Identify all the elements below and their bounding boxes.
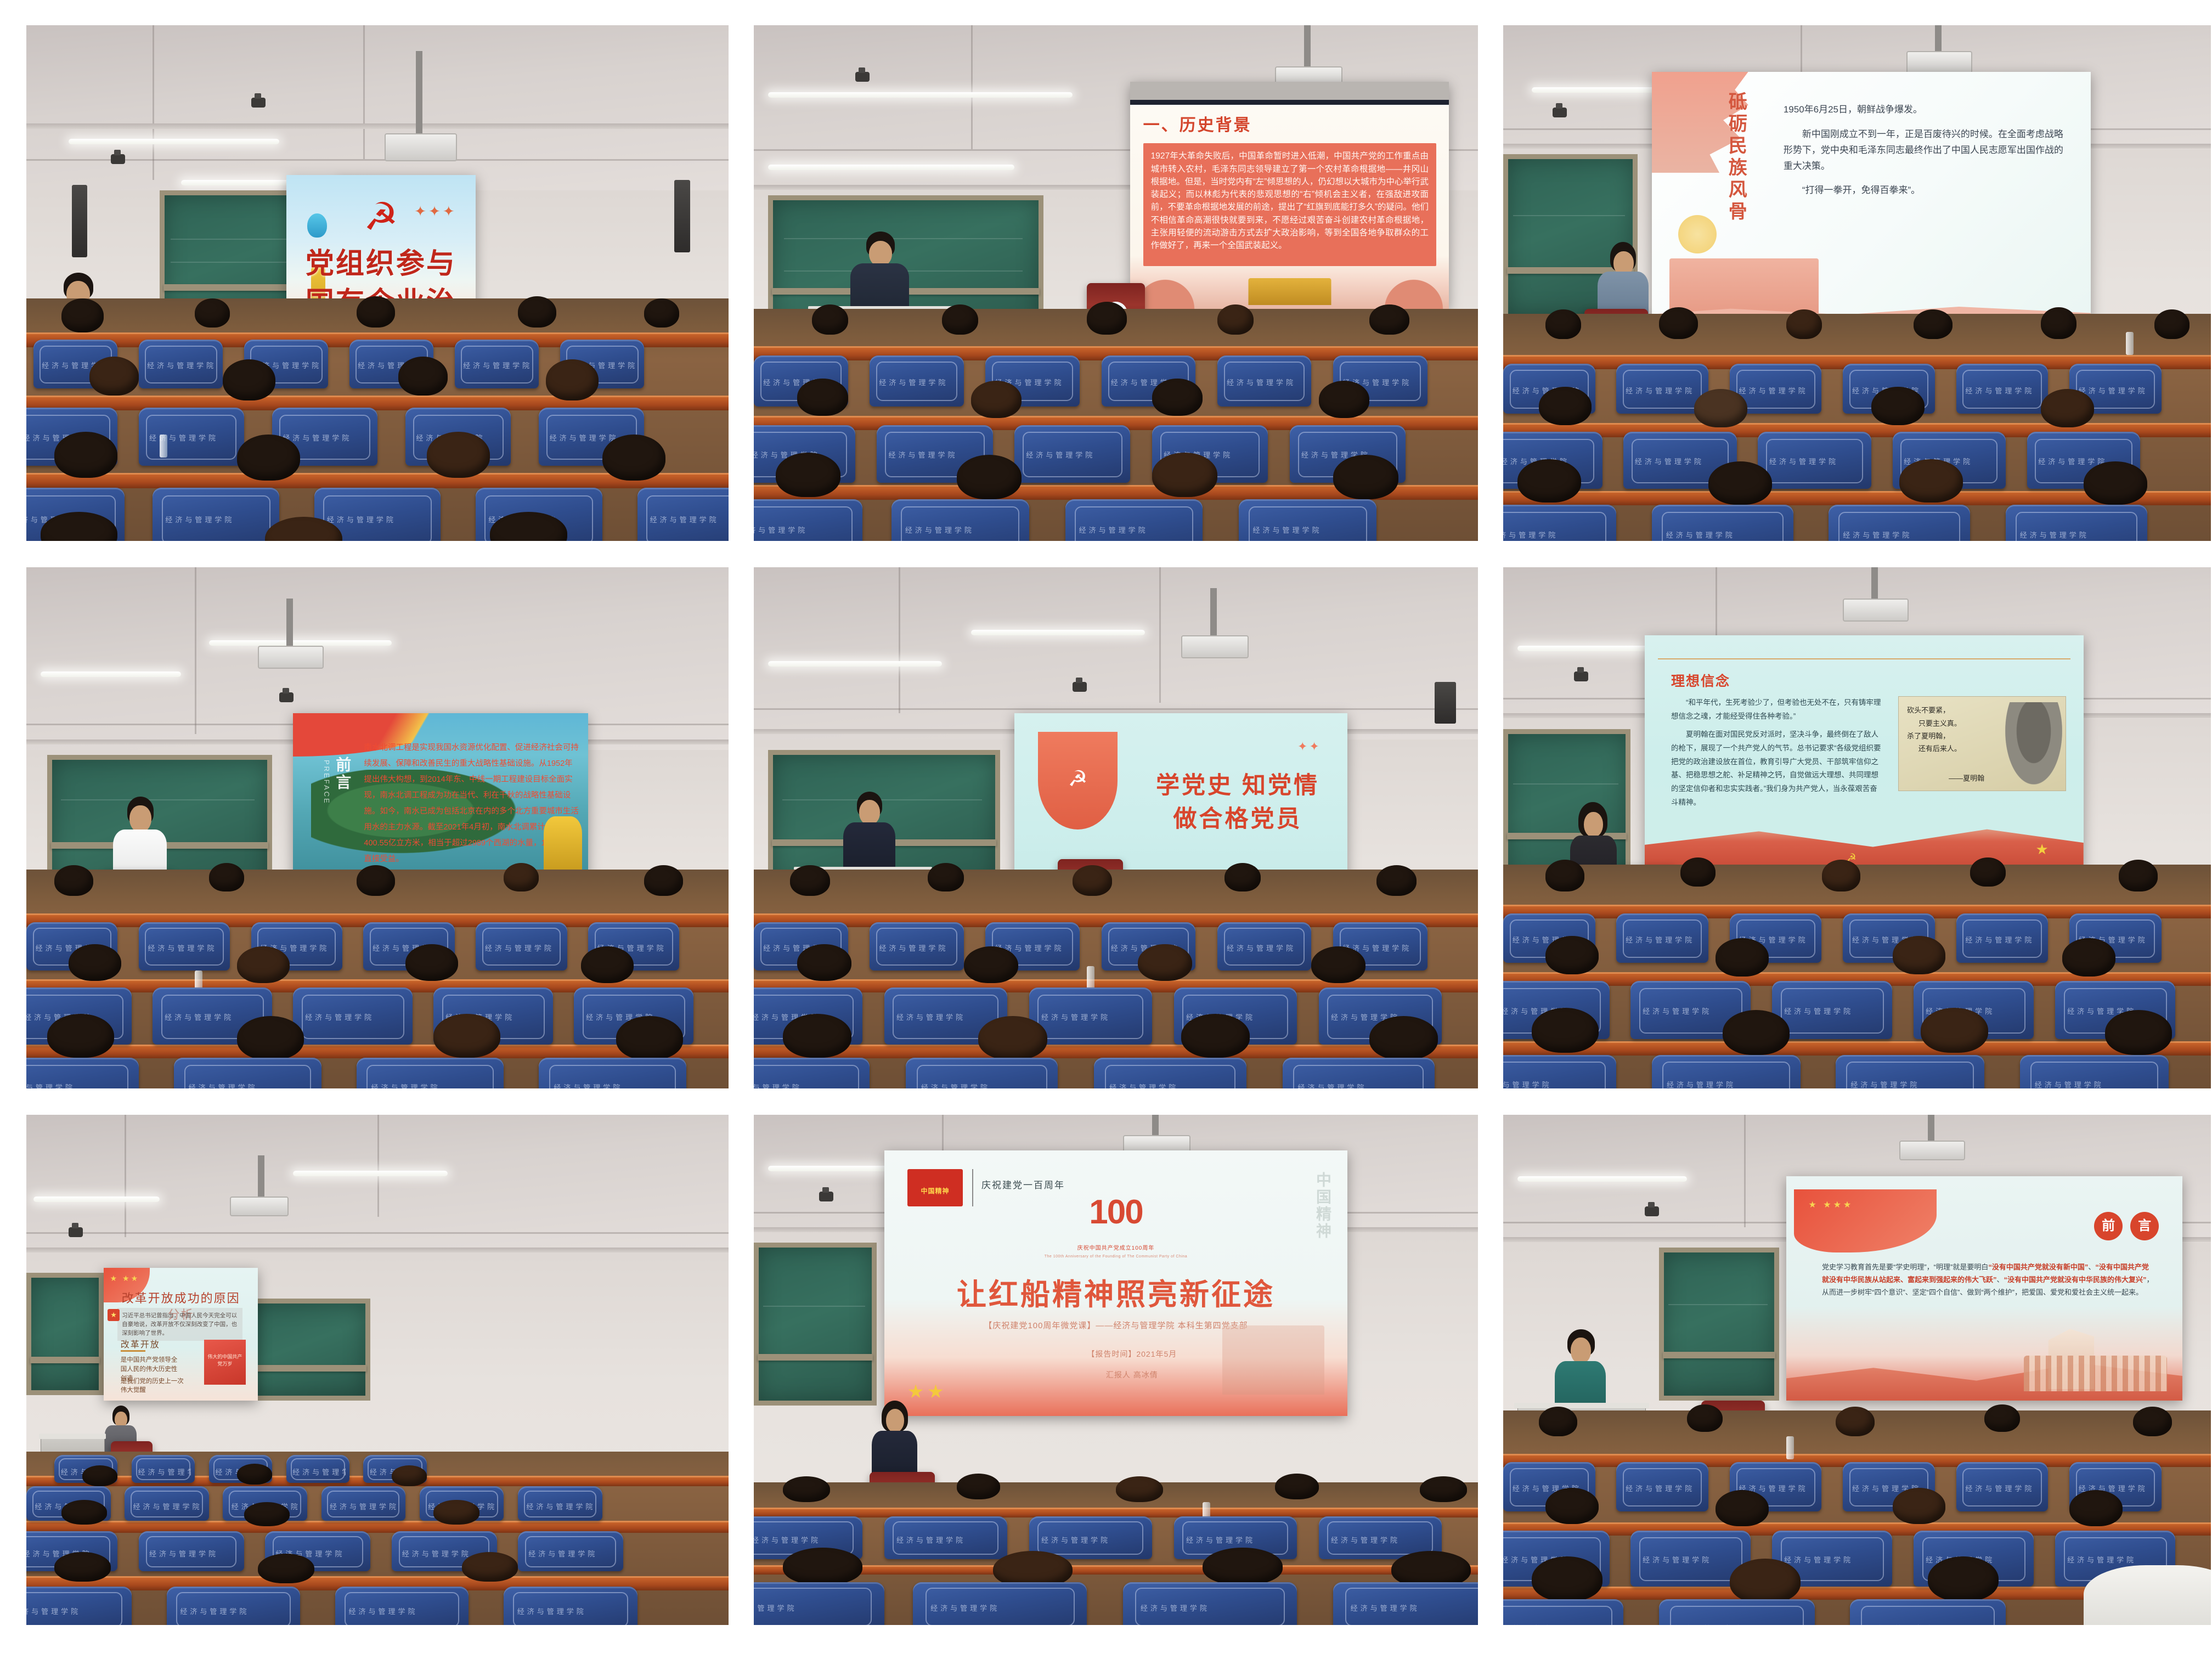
audience-seating: 经济与管理学院 经济与管理学院 经济与管理学院 经济与管理学院 经济与管理学院 … — [754, 309, 1478, 541]
slide-vertical-title: 砥砺民族风骨 — [1718, 92, 1747, 223]
chair-label: 经济与管理学院 — [371, 1082, 495, 1088]
classroom-scene: PREFACE 前言 南水北调工程是实现我国水资源优化配置、促进经济社会可持续发… — [26, 567, 729, 1088]
chair-label: 经济与管理学院 — [1041, 1534, 1145, 1545]
chair-label: 经济与管理学院 — [1635, 456, 1730, 466]
anniversary-en: The 100th Anniversary of the Founding of… — [1045, 1254, 1187, 1259]
chair-label: 经济与管理学院 — [189, 1082, 313, 1088]
chair-label: 经济与管理学院 — [1643, 1554, 1743, 1565]
chair-label: 经济与管理学院 — [1227, 377, 1306, 387]
chair-label: 经济与管理学院 — [1626, 385, 1703, 396]
chair-label: 经济与管理学院 — [463, 360, 534, 370]
photo-panel-7[interactable]: ★ ★★ 改革开放成功的原因分析 ★ 习近平总书记曾指出，中国人民今天完全可以自… — [26, 1115, 729, 1625]
chair-label: 经济与管理学院 — [133, 1501, 204, 1511]
crowd-relief-decor — [2024, 1356, 2166, 1391]
slide-content: 一、历史背景 1927年大革命失败后，中国革命暂时进入低潮，中国共产党的工作重点… — [1130, 105, 1449, 309]
photo-panel-9[interactable]: ★ ★★★ 前 言 党史学习教育首先是要“学史明理”，“明理”就是要明白“没有中… — [1503, 1115, 2211, 1625]
slide-body: 1927年大革命失败后，中国革命暂时进入低潮，中国共产党的工作重点由城市转入农村… — [1151, 150, 1429, 252]
chair-label: 经济与管理学院 — [485, 943, 562, 953]
projection-screen: ★ ★★ 改革开放成功的原因分析 ★ 习近平总书记曾指出，中国人民今天完全可以自… — [104, 1268, 258, 1401]
chair-label: 经济与管理学院 — [26, 1082, 130, 1088]
photo-panel-1[interactable]: ☭ ✦✦✦ 党组织参与国有企业治理 会计系党支部 薛龙 — [26, 25, 729, 541]
chair-label: 经济与管理学院 — [754, 1534, 855, 1545]
camera-icon — [1073, 682, 1087, 692]
chair-label: 经济与管理学院 — [526, 1501, 597, 1511]
chair-label: 经济与管理学院 — [1503, 1079, 1607, 1088]
classroom-scene: 中国精神 庆祝建党一百周年 100 庆祝中国共产党成立100周年 The 100… — [754, 1115, 1478, 1625]
projection-screen: 一、历史背景 1927年大革命失败后，中国革命暂时进入低潮，中国共产党的工作重点… — [1130, 82, 1449, 309]
slide-heading: 一、历史背景 — [1143, 115, 1252, 137]
chair-label: 经济与管理学院 — [896, 1534, 1000, 1545]
slide-keyword: 改革开放 — [121, 1337, 160, 1350]
chair-label: 经济与管理学院 — [149, 1548, 238, 1559]
flag-decor: ★ ★★★ — [1794, 1189, 1937, 1252]
slide-content: 砥砺民族风骨 1950年6月25日，朝鲜战争爆发。 新中国刚成立不到一年，正是百… — [1652, 72, 2091, 325]
chair-label: 经济与管理学院 — [180, 1606, 292, 1616]
chair-label: 经济与管理学院 — [1843, 529, 1962, 540]
chair-label: 经济与管理学院 — [879, 377, 958, 387]
photo-panel-8[interactable]: 中国精神 庆祝建党一百周年 100 庆祝中国共产党成立100周年 The 100… — [754, 1115, 1478, 1625]
chair-label: 经济与管理学院 — [517, 1606, 629, 1616]
slide-para-1: “和平年代，生死考验少了，但考验也无处不在，只有铸牢理想信念之魂，才能经受得住各… — [1671, 696, 1882, 724]
quote-attribution: ——夏明翰 — [1949, 772, 1984, 783]
chair-label: 经济与管理学院 — [1186, 1534, 1290, 1545]
card-caption: 伟大的中国共产党万岁 — [206, 1353, 243, 1367]
slide-line-2: 新中国刚成立不到一年，正是百废待兴的时候。在全面考虑战略形势下，党中央和毛泽东同… — [1784, 127, 2064, 174]
camera-icon — [819, 1192, 833, 1201]
slide-content: 中国精神 庆祝建党一百周年 100 庆祝中国共产党成立100周年 The 100… — [884, 1150, 1348, 1416]
chair-label: 经济与管理学院 — [1041, 1012, 1145, 1022]
projector — [230, 1197, 288, 1217]
slide-content: 理想信念 “和平年代，生死考验少了，但考验也无处不在，只有铸牢理想信念之魂，才能… — [1645, 635, 2084, 870]
camera-icon — [251, 98, 266, 108]
doves-icon: ✦✦ — [1297, 740, 1321, 754]
slide-body-panel: 1927年大革命失败后，中国革命暂时进入低潮，中国共产党的工作重点由城市转入农村… — [1143, 143, 1436, 266]
slide-preface-en: PREFACE — [323, 760, 331, 805]
camera-icon — [855, 72, 870, 82]
projector — [1899, 1141, 1965, 1161]
chair-label: 经济与管理学院 — [754, 524, 854, 535]
chair-label: 经济与管理学院 — [754, 1602, 874, 1613]
slide-line-1: 1950年6月25日，朝鲜战争爆发。 — [1784, 102, 2064, 118]
portrait-image — [2005, 702, 2062, 785]
chair-label: 经济与管理学院 — [1626, 1483, 1703, 1493]
chair-label: 经济与管理学院 — [1503, 529, 1608, 540]
chair-label: 经济与管理学院 — [1965, 385, 2042, 396]
chair-label: 经济与管理学院 — [1850, 1079, 1976, 1088]
classroom-scene: ☭ ✦✦✦ 党组织参与国有企业治理 会计系党支部 薛龙 — [26, 25, 729, 541]
classroom-scene: 一、历史背景 1927年大革命失败后，中国革命暂时进入低潮，中国共产党的工作重点… — [754, 25, 1478, 541]
chair-label: 经济与管理学院 — [1667, 1079, 1792, 1088]
classroom-scene: ☭ ✦✦ 学党史 知党情 做合格党员 ——经济与管理学院行政教工党支部 演讲人：… — [754, 567, 1478, 1088]
slide-content: ★ ★★★ 前 言 党史学习教育首先是要“学史明理”，“明理”就是要明白“没有中… — [1786, 1176, 2182, 1401]
slide-side-vertical: 中国精神 — [1312, 1172, 1334, 1240]
slide-quote: ★ 习近平总书记曾指出，中国人民今天完全可以自豪地说，改革开放不仅深刻改变了中国… — [117, 1308, 242, 1341]
slide-content: ★ ★★ 改革开放成功的原因分析 ★ 习近平总书记曾指出，中国人民今天完全可以自… — [104, 1268, 258, 1401]
audience-seating: 经济与管理学院 经济与管理学院 经济与管理学院 经济与管理学院 经济与管理学院 … — [754, 1482, 1478, 1625]
party-emblem-icon: ☭ — [364, 198, 398, 236]
chair-label: 经济与管理学院 — [2079, 385, 2156, 396]
chair-label: 经济与管理学院 — [327, 514, 433, 524]
chair-label: 经济与管理学院 — [1252, 524, 1368, 535]
classroom-scene: 砥砺民族风骨 1950年6月25日，朝鲜战争爆发。 新中国刚成立不到一年，正是百… — [1503, 25, 2211, 541]
water-bottle — [1786, 1436, 1794, 1459]
projection-screen: PREFACE 前言 南水北调工程是实现我国水资源优化配置、促进经济社会可持续发… — [293, 713, 588, 880]
chair-label: 经济与管理学院 — [528, 1548, 617, 1559]
camera-icon — [279, 692, 294, 702]
slide-para-2: 夏明翰在面对国民党反对派时，坚决斗争，最终倒在了敌人的枪下，展现了一个共产党人的… — [1671, 728, 1882, 810]
camera-icon — [111, 154, 125, 164]
photo-collage: ☭ ✦✦✦ 党组织参与国有企业治理 会计系党支部 薛龙 — [0, 0, 2212, 1659]
audience-seating: 经济与管理学院 经济与管理学院 经济与管理学院 经济与管理学院 经济与管理学院 … — [26, 870, 729, 1088]
chair-label: 经济与管理学院 — [1503, 1623, 1614, 1625]
slide-tagline: 庆祝建党一百周年 — [981, 1180, 1065, 1192]
camera-icon — [1553, 108, 1567, 117]
tiananmen-icon — [1222, 1325, 1324, 1395]
chair-label: 经济与管理学院 — [1109, 1082, 1237, 1088]
quote-card: 砍头不要紧， 只要主义真。 杀了夏明翰， 还有后来人。 ——夏明翰 — [1898, 696, 2066, 791]
slide-meta-time: 【报告时间】2021年5月 — [1087, 1350, 1177, 1358]
chair-label: 经济与管理学院 — [921, 1082, 1049, 1088]
classroom-scene: ★ ★★★ 前 言 党史学习教育首先是要“学史明理”，“明理”就是要明白“没有中… — [1503, 1115, 2211, 1625]
chair-label: 经济与管理学院 — [305, 1012, 405, 1022]
water-bottle — [2126, 332, 2134, 355]
slide-content: PREFACE 前言 南水北调工程是实现我国水资源优化配置、促进经济社会可持续发… — [293, 713, 588, 880]
chair-label: 经济与管理学院 — [930, 1602, 1076, 1613]
quote-text: 砍头不要紧， 只要主义真。 杀了夏明翰， 还有后来人。 — [1907, 704, 2010, 755]
chalkboard — [244, 1299, 370, 1401]
photo-panel-6[interactable]: 理想信念 “和平年代，生死考验少了，但考验也无处不在，只有铸牢理想信念之魂，才能… — [1503, 567, 2211, 1088]
balloon-icon — [307, 213, 327, 238]
classroom-scene: ★ ★★ 改革开放成功的原因分析 ★ 习近平总书记曾指出，中国人民今天完全可以自… — [26, 1115, 729, 1625]
chair-label: 经济与管理学院 — [1643, 1006, 1743, 1016]
anniversary-cn: 庆祝中国共产党成立100周年 — [1077, 1243, 1155, 1251]
slide-body: 1950年6月25日，朝鲜战争爆发。 新中国刚成立不到一年，正是百废待兴的时候。… — [1784, 102, 2064, 207]
chair-label: 经济与管理学院 — [1666, 529, 1785, 540]
slide-image-card: 伟大的中国共产党万岁 — [204, 1340, 246, 1385]
chair-label: 经济与管理学院 — [330, 1501, 400, 1511]
chair-label: 经济与管理学院 — [1674, 1623, 1805, 1625]
slide-body: “和平年代，生死考验少了，但考验也无处不在，只有铸牢理想信念之魂，才能经受得住各… — [1671, 696, 1882, 815]
audience-seating: 经济与管理学院 经济与管理学院 经济与管理学院 经济与管理学院 经济与管理学院 … — [1503, 1410, 2211, 1625]
camera-icon — [1574, 672, 1588, 681]
slide-title-line-1: 学党史 知党情 — [1141, 770, 1334, 802]
china-spirit-logo: 中国精神 — [907, 1169, 963, 1206]
projector — [1181, 635, 1249, 658]
projector — [1843, 599, 1909, 622]
anniversary-number: 100 — [1089, 1195, 1142, 1229]
chair-label: 经济与管理学院 — [650, 514, 729, 524]
slide-title: 让红船精神照亮新征途 — [902, 1275, 1329, 1315]
chair-label: 经济与管理学院 — [1965, 1483, 2042, 1493]
chair-label: 经济与管理学院 — [1626, 934, 1703, 945]
chair-label: 经济与管理学院 — [1227, 943, 1306, 953]
audience-seating: 经济与管理学院 经济与管理学院 经济与管理学院 经济与管理学院 经济与管理学院 … — [1503, 865, 2211, 1089]
chair-label: 经济与管理学院 — [148, 943, 224, 953]
projection-screen: ★ ★★★ 前 言 党史学习教育首先是要“学史明理”，“明理”就是要明白“没有中… — [1786, 1176, 2182, 1401]
projector — [258, 646, 323, 669]
chair-label: 经济与管理学院 — [1865, 1623, 1996, 1625]
sun-icon — [1678, 215, 1717, 253]
slide-point-2: 是我们党的历史上一次伟大觉醒 — [121, 1376, 185, 1394]
audience-seating: 经济与管理学院 经济与管理学院 经济与管理学院 经济与管理学院 经济与管理学院 … — [26, 298, 729, 541]
camera-icon — [69, 1227, 83, 1237]
chalkboard — [26, 1273, 104, 1395]
audience-seating: 经济与管理学院 经济与管理学院 经济与管理学院 经济与管理学院 经济与管理学院 … — [754, 870, 1478, 1088]
chair-label: 经济与管理学院 — [1079, 524, 1195, 535]
audience-seating: 经济与管理学院 经济与管理学院 经济与管理学院 经济与管理学院 经济与管理学院 … — [26, 1452, 729, 1625]
tiananmen-icon — [1248, 278, 1331, 304]
chair-label: 经济与管理学院 — [1026, 449, 1123, 460]
chair-label: 经济与管理学院 — [292, 1466, 346, 1477]
projection-screen: 砥砺民族风骨 1950年6月25日，朝鲜战争爆发。 新中国刚成立不到一年，正是百… — [1652, 72, 2091, 325]
star-icon: ★ — [2036, 841, 2049, 858]
slide-meta-person: 汇报人 高冰倩 — [1106, 1370, 1158, 1379]
classroom-scene: 理想信念 “和平年代，生死考验少了，但考验也无处不在，只有铸牢理想信念之魂，才能… — [1503, 567, 2211, 1088]
chalkboard — [1659, 1248, 1779, 1401]
lion-icon — [544, 816, 582, 873]
preface-badge: 前 言 — [2094, 1212, 2159, 1240]
chair-label: 经济与管理学院 — [879, 943, 958, 953]
chair-label: 经济与管理学院 — [2067, 1554, 2168, 1565]
projection-screen: 中国精神 庆祝建党一百周年 100 庆祝中国共产党成立100周年 The 100… — [884, 1150, 1348, 1416]
projection-screen: 理想信念 “和平年代，生死考验少了，但考验也无处不在，只有铸牢理想信念之魂，才能… — [1645, 635, 2084, 870]
chair-label: 经济与管理学院 — [1141, 1602, 1286, 1613]
chair-label: 经济与管理学院 — [2020, 529, 2139, 540]
party-emblem-icon: ☭ — [1038, 732, 1118, 830]
star-badge-icon: ★ — [108, 1309, 120, 1321]
projector — [1906, 51, 1972, 74]
photo-panel-2[interactable]: 一、历史背景 1927年大革命失败后，中国革命暂时进入低潮，中国共产党的工作重点… — [754, 25, 1478, 541]
camera-icon — [1645, 1206, 1659, 1216]
slide-heading: 理想信念 — [1671, 673, 1730, 691]
chair-label: 经济与管理学院 — [1297, 1082, 1425, 1088]
star-icon: ★★ — [907, 1381, 947, 1403]
chair-label: 经济与管理学院 — [283, 432, 371, 443]
slide-vertical-title: 前言 — [331, 757, 353, 792]
chair-label: 经济与管理学院 — [1965, 934, 2042, 945]
photo-panel-5[interactable]: ☭ ✦✦ 学党史 知党情 做合格党员 ——经济与管理学院行政教工党支部 演讲人：… — [754, 567, 1478, 1088]
water-bottle — [160, 435, 167, 458]
projector — [385, 133, 457, 161]
chair-label: 经济与管理学院 — [754, 1082, 861, 1088]
chair-label: 经济与管理学院 — [165, 514, 272, 524]
chair-label: 经济与管理学院 — [1784, 1006, 1885, 1016]
chair-label: 经济与管理学院 — [147, 360, 218, 370]
photo-panel-4[interactable]: PREFACE 前言 南水北调工程是实现我国水资源优化配置、促进经济社会可持续发… — [26, 567, 729, 1088]
slide-title-line-2: 做合格党员 — [1141, 803, 1334, 835]
chair-label: 经济与管理学院 — [138, 1466, 191, 1477]
audience-seating: 经济与管理学院 经济与管理学院 经济与管理学院 经济与管理学院 经济与管理学院 … — [1503, 314, 2211, 541]
chair-label: 经济与管理学院 — [1351, 1602, 1478, 1613]
tiananmen-icon — [1669, 258, 1819, 314]
chair-label: 经济与管理学院 — [554, 1082, 678, 1088]
photo-panel-3[interactable]: 砥砺民族风骨 1950年6月25日，朝鲜战争爆发。 新中国刚成立不到一年，正是百… — [1503, 25, 2211, 541]
water-bottle — [1087, 966, 1094, 989]
chalkboard — [754, 1243, 877, 1406]
chair-label: 经济与管理学院 — [2035, 1079, 2160, 1088]
chair-label: 经济与管理学院 — [896, 1012, 1000, 1022]
chair-label: 经济与管理学院 — [26, 1606, 123, 1616]
slide-body: 党史学习教育首先是要“学史明理”，“明理”就是要明白“没有中国共产党就没有新中国… — [1822, 1261, 2155, 1299]
doves-icon: ✦✦✦ — [414, 203, 456, 220]
chair-label: 经济与管理学院 — [1331, 1534, 1435, 1545]
chair-label: 经济与管理学院 — [1739, 385, 1816, 396]
chair-label: 经济与管理学院 — [349, 1606, 461, 1616]
chair-label: 经济与管理学院 — [905, 524, 1021, 535]
chair-label: 经济与管理学院 — [1769, 456, 1864, 466]
slide-line-3: “打得一拳开，免得百拳来”。 — [1784, 183, 2064, 199]
chair-label: 经济与管理学院 — [1784, 1554, 1885, 1565]
